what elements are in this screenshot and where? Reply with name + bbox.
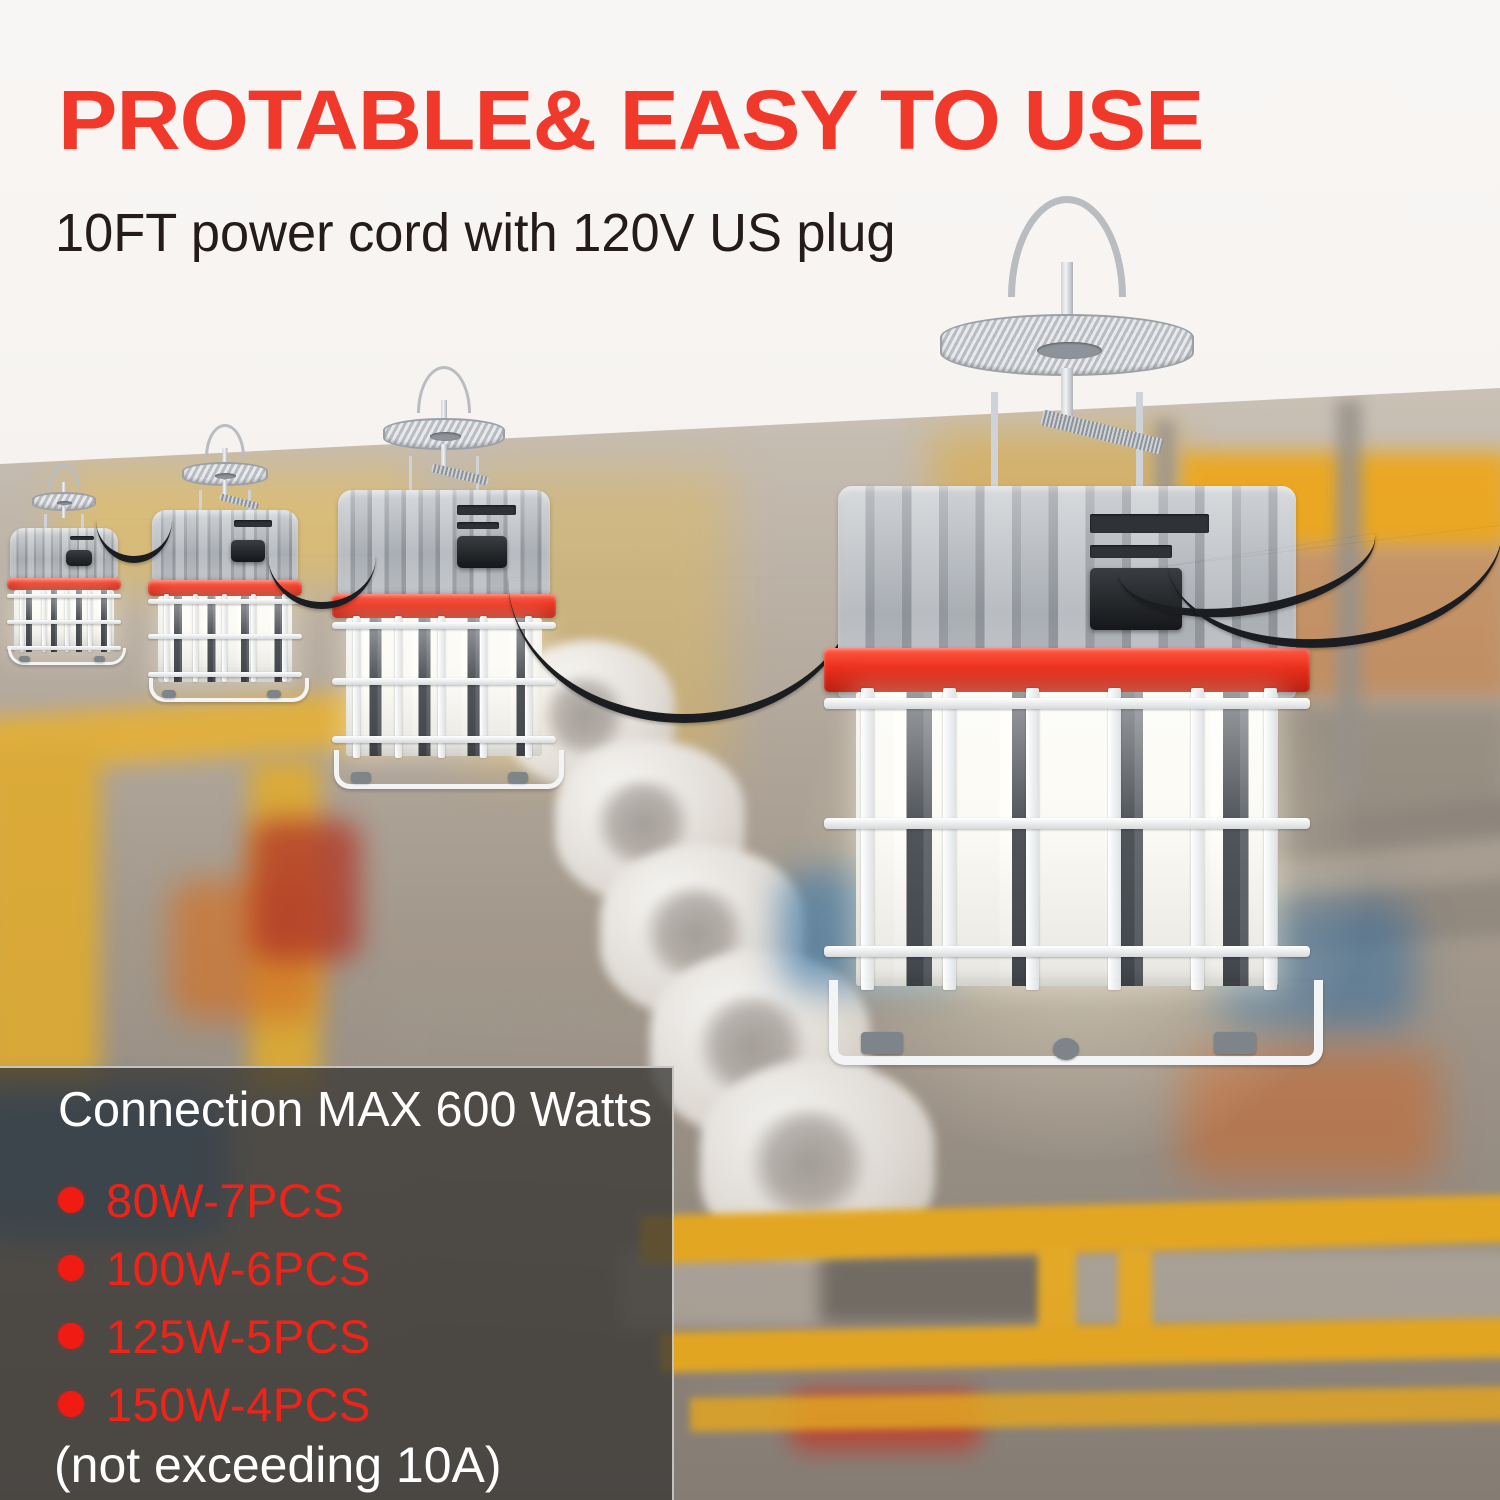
- specs-panel: Connection MAX 600 Watts 80W-7PCS 100W-6…: [0, 1066, 674, 1500]
- list-item: 150W-4PCS: [58, 1370, 658, 1438]
- product-marketing-image: PROTABLE& EASY TO USE 10FT power cord wi…: [0, 0, 1500, 1500]
- bullet-dot-icon: [58, 1323, 84, 1349]
- list-item: 80W-7PCS: [58, 1166, 658, 1234]
- rubber-foot: [861, 1032, 903, 1054]
- list-item-label: 150W-4PCS: [106, 1381, 371, 1428]
- led-barrel: [856, 692, 1277, 986]
- specs-panel-title: Connection MAX 600 Watts: [58, 1086, 652, 1135]
- list-item: 100W-6PCS: [58, 1234, 658, 1302]
- vent-slot: [1090, 514, 1209, 533]
- page-headline: PROTABLE& EASY TO USE: [58, 78, 1203, 162]
- specs-panel-footnote: (not exceeding 10A): [54, 1440, 502, 1490]
- page-subtitle: 10FT power cord with 120V US plug: [55, 206, 895, 260]
- wattage-bullet-list: 80W-7PCS 100W-6PCS 125W-5PCS 150W-4PCS: [58, 1166, 658, 1438]
- bullet-dot-icon: [58, 1255, 84, 1281]
- rubber-foot: [1214, 1032, 1256, 1054]
- bullet-dot-icon: [58, 1391, 84, 1417]
- lamp-fixture-1: [10, 466, 118, 662]
- red-accent-band: [824, 648, 1309, 692]
- list-item-label: 100W-6PCS: [106, 1245, 371, 1292]
- list-item-label: 80W-7PCS: [106, 1177, 344, 1224]
- list-item: 125W-5PCS: [58, 1302, 658, 1370]
- lamp-fixture-hero: [838, 196, 1296, 1082]
- bullet-dot-icon: [58, 1187, 84, 1213]
- vent-slot: [1090, 545, 1172, 558]
- mounting-bracket: [940, 314, 1194, 376]
- list-item-label: 125W-5PCS: [106, 1313, 371, 1360]
